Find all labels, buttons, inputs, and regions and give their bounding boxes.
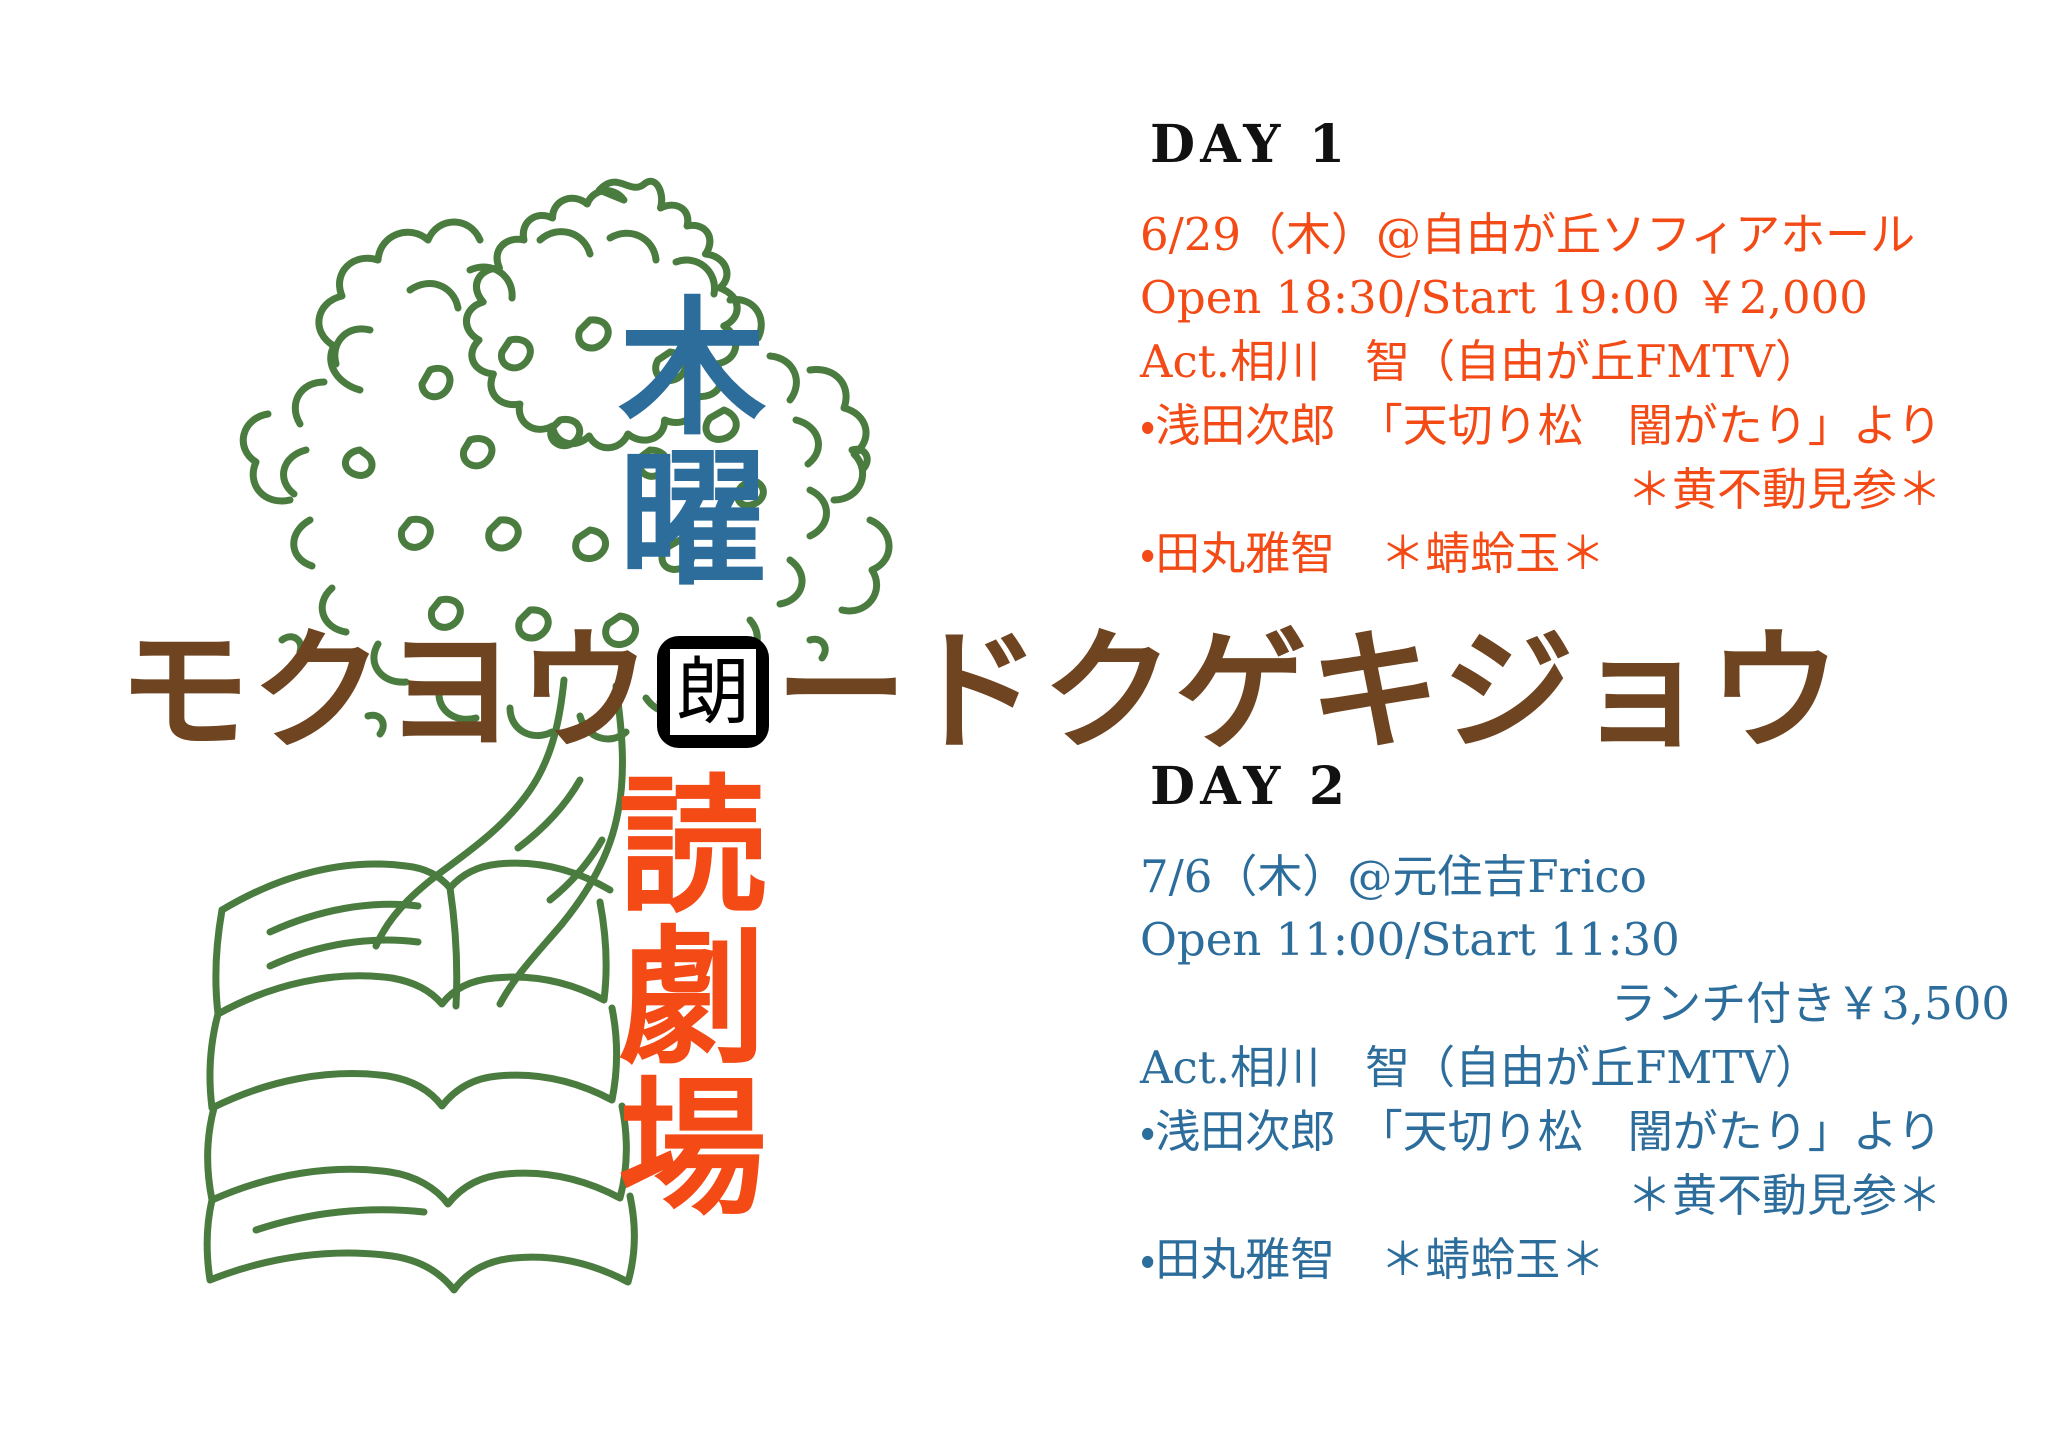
day1-line-time-price: Open 18:30/Start 19:00 ￥2,000 — [1140, 266, 2020, 330]
day2-line-time: Open 11:00/Start 11:30 — [1140, 908, 2020, 972]
day1-line-program-1: ・浅田次郎 「天切り松 闇がたり」より — [1140, 394, 2020, 458]
day2-line-program-1: ・浅田次郎 「天切り松 闇がたり」より — [1140, 1100, 2020, 1164]
day1-line-act: Act.相川 智（自由が丘FMTV） — [1140, 330, 2020, 394]
vertical-title-doukugekijou: 読劇場 — [600, 768, 757, 1221]
day1-line-program-2: ・田丸雅智 ＊蜻蛉玉＊ — [1140, 522, 2020, 586]
poster-canvas: 木曜 読劇場 モクヨウ 朗 ードクゲキジョウ DAY 1 6/29（木）@自由が… — [0, 0, 2048, 1446]
day2-section: DAY 2 7/6（木）@元住吉Frico Open 11:00/Start 1… — [1140, 760, 2020, 1292]
day2-line-program-1-sub: ＊黄不動見参＊ — [1140, 1164, 2020, 1228]
book-stack-icon — [207, 863, 634, 1290]
day1-line-program-1-sub: ＊黄不動見参＊ — [1140, 458, 2020, 522]
day2-line-lunch-price: ランチ付き￥3,500 — [1140, 972, 2020, 1036]
day2-line-program-2: ・田丸雅智 ＊蜻蛉玉＊ — [1140, 1228, 2020, 1292]
day1-heading: DAY 1 — [1150, 118, 2020, 173]
day2-heading: DAY 2 — [1150, 760, 2020, 815]
vertical-title-mokuyou: 木曜 — [600, 290, 757, 592]
main-title-lockup: モクヨウ 朗 ードクゲキジョウ — [118, 612, 1842, 772]
main-title-left: モクヨウ — [118, 626, 651, 758]
day2-line-act: Act.相川 智（自由が丘FMTV） — [1140, 1036, 2020, 1100]
boxed-rou-badge: 朗 — [657, 636, 769, 748]
boxed-rou-character: 朗 — [670, 649, 756, 735]
day1-line-venue: 6/29（木）@自由が丘ソフィアホール — [1140, 203, 2020, 267]
day2-detail-list: 7/6（木）@元住吉Frico Open 11:00/Start 11:30 ラ… — [1140, 845, 2020, 1292]
main-title-right: ードクゲキジョウ — [775, 626, 1842, 758]
day1-detail-list: 6/29（木）@自由が丘ソフィアホール Open 18:30/Start 19:… — [1140, 203, 2020, 586]
day1-section: DAY 1 6/29（木）@自由が丘ソフィアホール Open 18:30/Sta… — [1140, 118, 2020, 586]
day2-line-venue: 7/6（木）@元住吉Frico — [1140, 845, 2020, 909]
